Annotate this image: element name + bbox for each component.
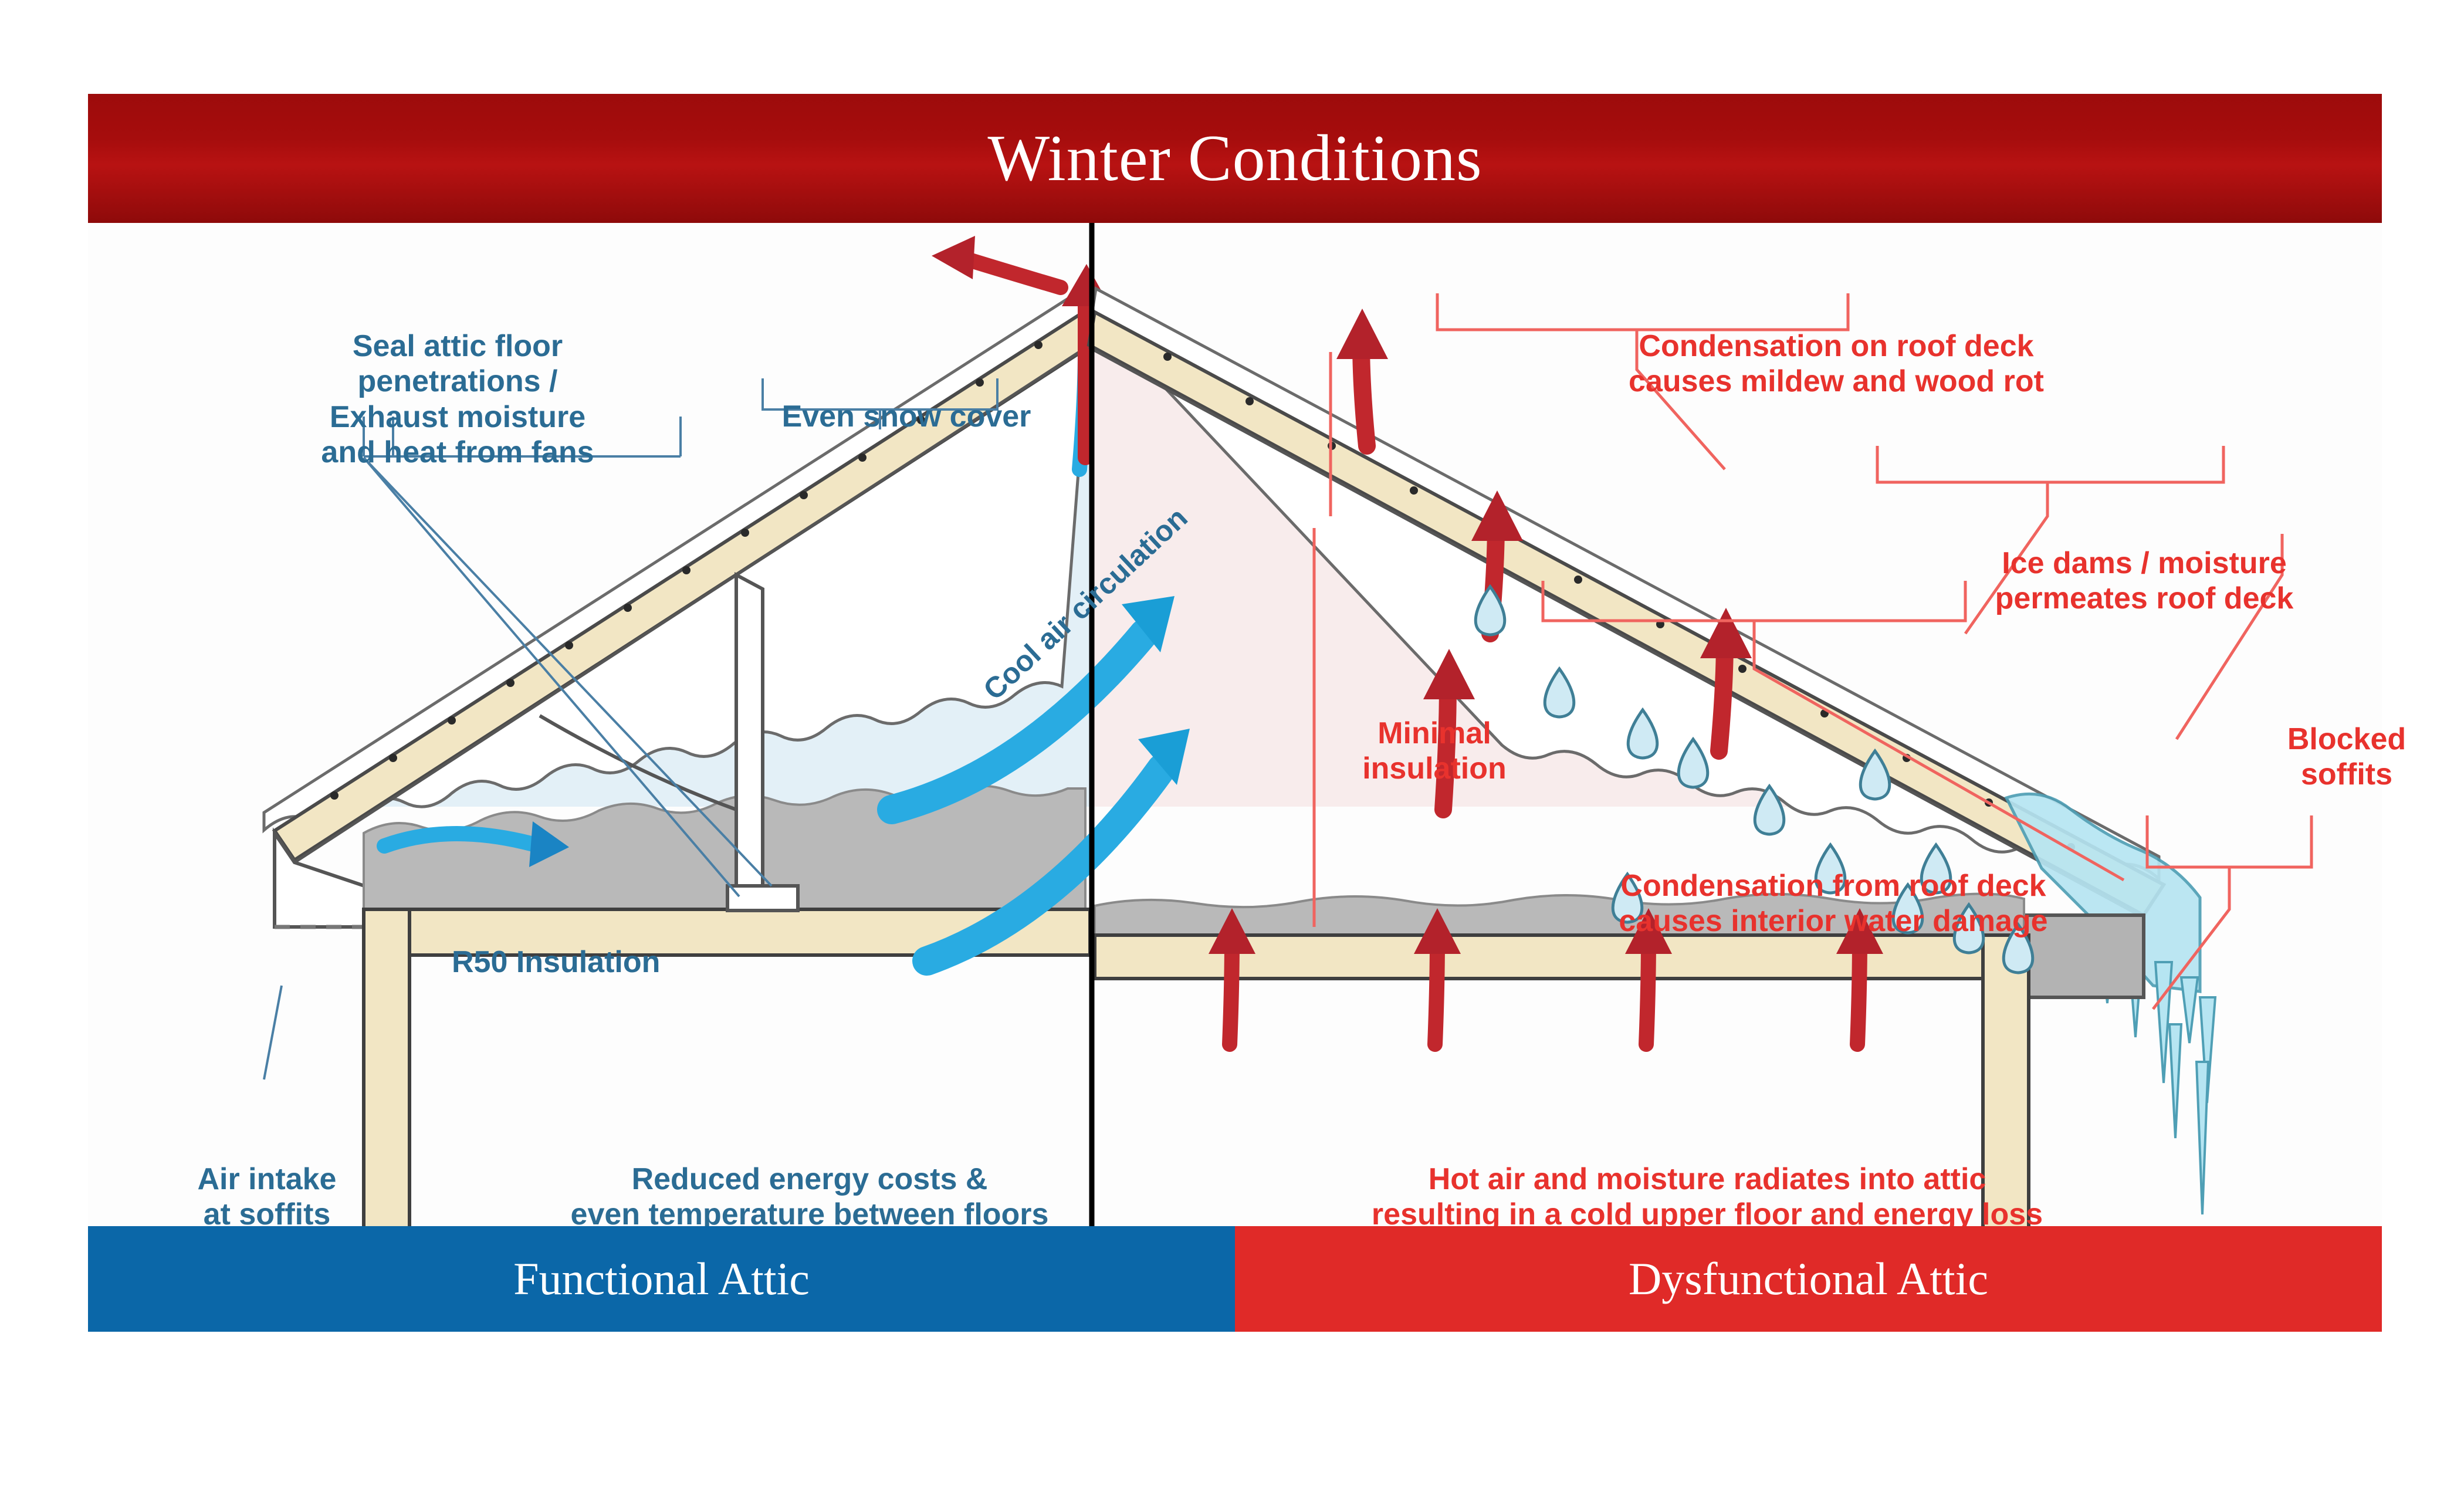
diagram-frame: Winter Conditions <box>88 94 2382 1332</box>
label-blocked-soffits: Blocked soffits <box>2200 722 2464 793</box>
baffle-foot <box>727 886 798 911</box>
functional-attic-banner: Functional Attic <box>88 1226 1235 1332</box>
label-air-intake-at-soffits: Air intake at soffits <box>170 1162 364 1233</box>
label-even-snow-cover: Even snow cover <box>727 399 1085 434</box>
label-minimal-insulation: Minimal insulation <box>1297 716 1572 787</box>
dysfunctional-attic-banner: Dysfunctional Attic <box>1235 1226 2382 1332</box>
label-seal-attic-penetrations: Seal attic floor penetrations / Exhaust … <box>282 329 634 470</box>
attic-baffle-left <box>736 575 763 909</box>
label-hot-air-radiates: Hot air and moisture radiates into attic… <box>1297 1162 2118 1233</box>
exterior-wall-left <box>364 909 409 1226</box>
label-ice-dams-moisture: Ice dams / moisture permeates roof deck <box>1901 546 2388 617</box>
ridge-vent-arrow-left-icon <box>963 258 1061 287</box>
diagram-canvas: Winter Conditions <box>0 0 2464 1496</box>
label-r50-insulation: R50 Insulation <box>452 945 757 980</box>
functional-attic-label: Functional Attic <box>513 1253 810 1305</box>
ridge-vent-arrowhead-left-icon <box>932 236 975 279</box>
page-title: Winter Conditions <box>987 121 1482 197</box>
title-banner: Winter Conditions <box>88 94 2382 223</box>
label-condensation-interior-damage: Condensation from roof deck causes inter… <box>1537 868 2130 939</box>
dysfunctional-attic-label: Dysfunctional Attic <box>1629 1253 1988 1305</box>
label-condensation-roof-deck: Condensation on roof deck causes mildew … <box>1537 329 2135 400</box>
bottom-banner: Functional Attic Dysfunctional Attic <box>88 1226 2382 1332</box>
label-reduced-energy-costs: Reduced energy costs & even temperature … <box>510 1162 1109 1233</box>
